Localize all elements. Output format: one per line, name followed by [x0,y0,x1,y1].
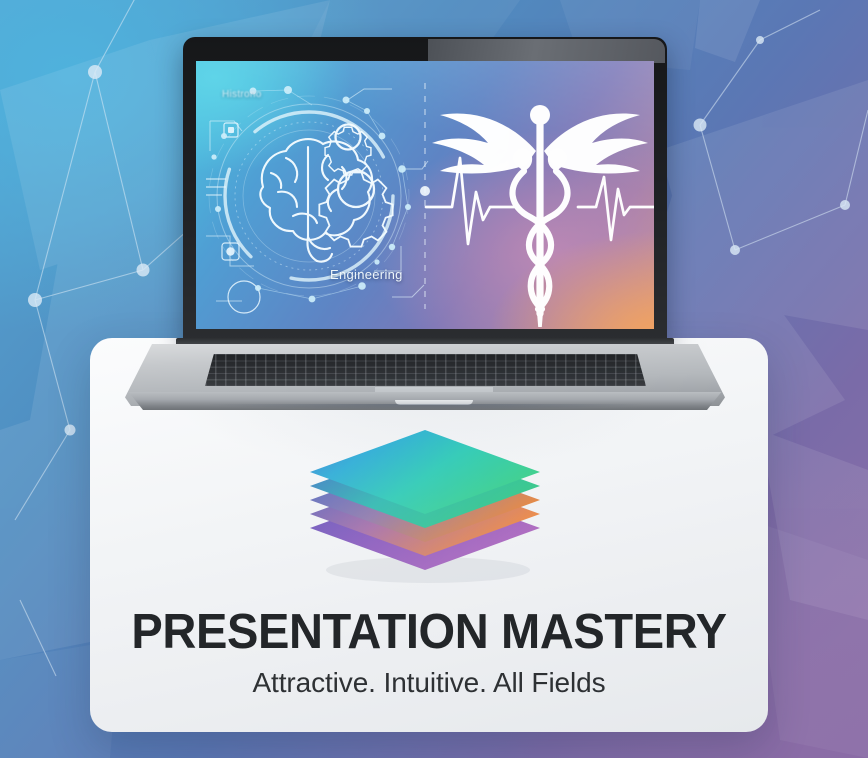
page-subtitle: Attractive. Intuitive. All Fields [90,667,768,699]
page-title: PRESENTATION MASTERY [104,604,755,660]
poster-canvas: Histrono Engineering [0,0,868,758]
layer-stack-logo [300,424,550,584]
